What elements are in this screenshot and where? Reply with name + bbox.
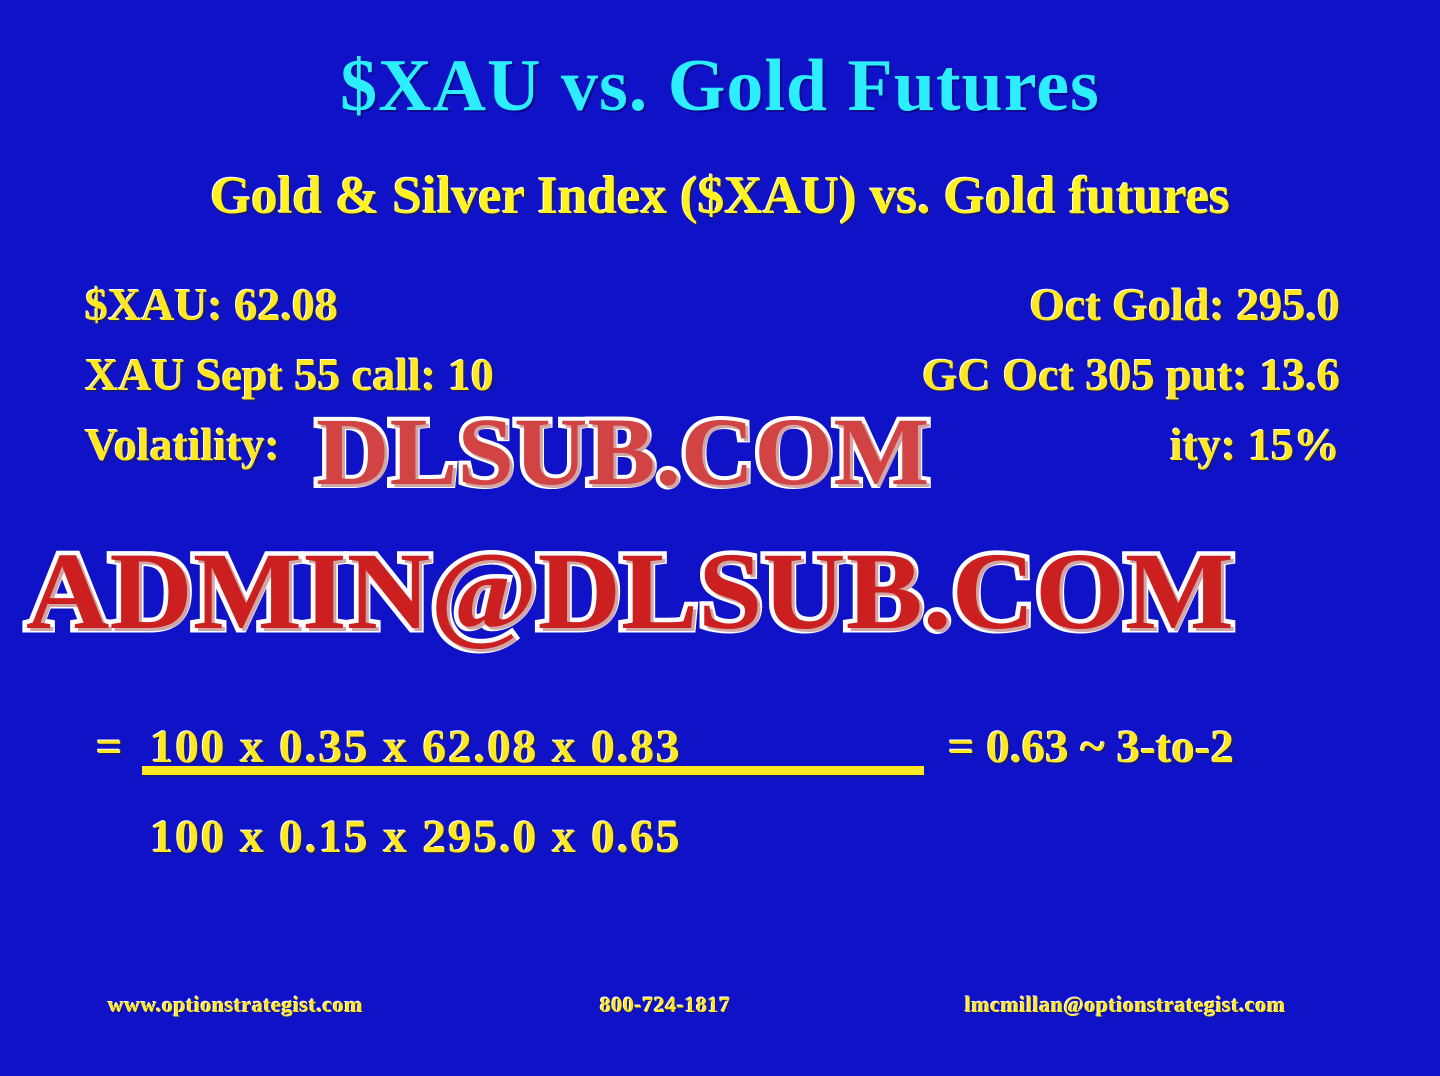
footer-email[interactable]: lmcmillan@optionstrategist.com bbox=[965, 992, 1286, 1018]
formula-denominator: 100 x 0.15 x 295.0 x 0.65 bbox=[150, 810, 682, 864]
formula-numerator-line: = 100 x 0.35 x 62.08 x 0.83 = 0.63 ~ 3-t… bbox=[0, 706, 1440, 802]
gold-future-label-value: Oct Gold: 295.0 bbox=[1030, 278, 1340, 331]
footer-website[interactable]: www.optionstrategist.com bbox=[108, 992, 363, 1018]
slide-subtitle: Gold & Silver Index ($XAU) vs. Gold futu… bbox=[0, 166, 1440, 226]
xau-volatility-label: Volatility: bbox=[85, 418, 280, 471]
xau-call-label-value: XAU Sept 55 call: 10 bbox=[85, 348, 494, 401]
slide-title: $XAU vs. Gold Futures bbox=[0, 44, 1440, 129]
fraction-bar bbox=[142, 766, 924, 775]
formula-leading-equals: = bbox=[96, 720, 123, 774]
watermark-admin-email: ADMIN@DLSUB.COM bbox=[26, 528, 1234, 655]
ratio-formula: = 100 x 0.35 x 62.08 x 0.83 = 0.63 ~ 3-t… bbox=[0, 706, 1440, 898]
slide-footer: www.optionstrategist.com 800-724-1817 lm… bbox=[0, 992, 1440, 1032]
xau-spot-label-value: $XAU: 62.08 bbox=[85, 278, 338, 331]
watermark-dlsub: DLSUB.COM bbox=[316, 396, 929, 507]
presentation-slide: $XAU vs. Gold Futures Gold & Silver Inde… bbox=[0, 0, 1440, 1076]
table-row: $XAU: 62.08 Oct Gold: 295.0 bbox=[0, 278, 1440, 348]
formula-denominator-line: 100 x 0.15 x 295.0 x 0.65 bbox=[0, 802, 1440, 898]
footer-phone: 800-724-1817 bbox=[600, 992, 731, 1018]
gold-volatility-label-value: ity: 15% bbox=[1170, 418, 1340, 471]
gc-put-label-value: GC Oct 305 put: 13.6 bbox=[922, 348, 1340, 401]
formula-result: = 0.63 ~ 3-to-2 bbox=[948, 720, 1234, 774]
